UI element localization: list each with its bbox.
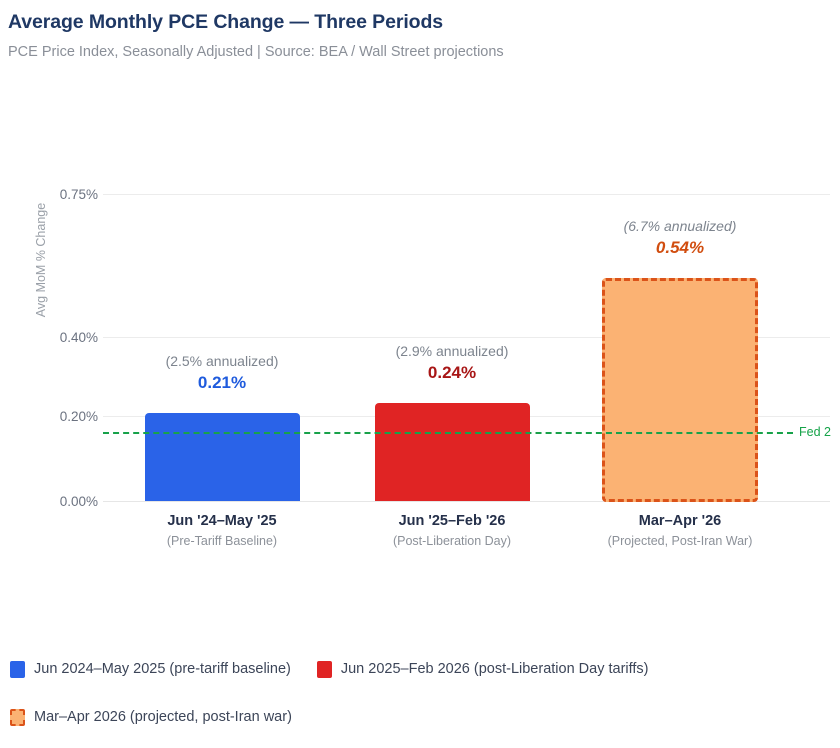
bar-jun25-feb26[interactable] [375, 403, 530, 501]
legend-item-projected[interactable]: Mar–Apr 2026 (projected, post-Iran war) [10, 708, 292, 726]
annualized-label: (2.5% annualized) [112, 352, 332, 370]
legend-row-2: Mar–Apr 2026 (projected, post-Iran war) [10, 708, 292, 726]
x-tick-main-label: Jun '25–Feb '26 [337, 512, 567, 531]
value-label: 0.21% [112, 372, 332, 394]
legend-label: Mar–Apr 2026 (projected, post-Iran war) [34, 708, 292, 726]
bar-annotation-jun25-feb26: (2.9% annualized) 0.24% [342, 342, 562, 384]
fed-target-line-label: Fed 2 [799, 425, 831, 439]
gridline-075 [103, 194, 830, 195]
x-tick-jun24-may25: Jun '24–May '25 (Pre-Tariff Baseline) [107, 512, 337, 550]
x-tick-mar-apr26: Mar–Apr '26 (Projected, Post-Iran War) [565, 512, 795, 550]
x-tick-sub-label: (Pre-Tariff Baseline) [107, 533, 337, 550]
y-tick-label: 0.00% [36, 495, 98, 509]
legend-swatch-red-icon [317, 661, 332, 678]
y-tick-label: 0.20% [36, 410, 98, 424]
bar-annotation-mar-apr26: (6.7% annualized) 0.54% [570, 217, 790, 259]
legend-label: Jun 2025–Feb 2026 (post-Liberation Day t… [341, 660, 649, 678]
legend-swatch-blue-icon [10, 661, 25, 678]
bar-annotation-jun24-may25: (2.5% annualized) 0.21% [112, 352, 332, 394]
value-label: 0.54% [570, 237, 790, 259]
x-tick-sub-label: (Projected, Post-Iran War) [565, 533, 795, 550]
annualized-label: (2.9% annualized) [342, 342, 562, 360]
legend-item-post-liberation-day[interactable]: Jun 2025–Feb 2026 (post-Liberation Day t… [317, 660, 649, 678]
bar-mar-apr26[interactable] [602, 278, 758, 502]
bar-jun24-may25[interactable] [145, 413, 300, 501]
x-tick-jun25-feb26: Jun '25–Feb '26 (Post-Liberation Day) [337, 512, 567, 550]
annualized-label: (6.7% annualized) [570, 217, 790, 235]
plot-area: 0.75% 0.40% 0.20% 0.00% Avg MoM % Change… [0, 0, 840, 600]
legend-item-pre-tariff[interactable]: Jun 2024–May 2025 (pre-tariff baseline) [10, 660, 291, 678]
x-tick-sub-label: (Post-Liberation Day) [337, 533, 567, 550]
legend-row-1: Jun 2024–May 2025 (pre-tariff baseline) … [10, 660, 649, 678]
y-axis-title: Avg MoM % Change [34, 185, 48, 335]
value-label: 0.24% [342, 362, 562, 384]
fed-target-line [103, 432, 793, 434]
legend-label: Jun 2024–May 2025 (pre-tariff baseline) [34, 660, 291, 678]
legend-swatch-dashed-orange-icon [10, 709, 25, 726]
x-tick-main-label: Mar–Apr '26 [565, 512, 795, 531]
y-axis-ticks: 0.75% 0.40% 0.20% 0.00% Avg MoM % Change [30, 0, 98, 600]
x-tick-main-label: Jun '24–May '25 [107, 512, 337, 531]
